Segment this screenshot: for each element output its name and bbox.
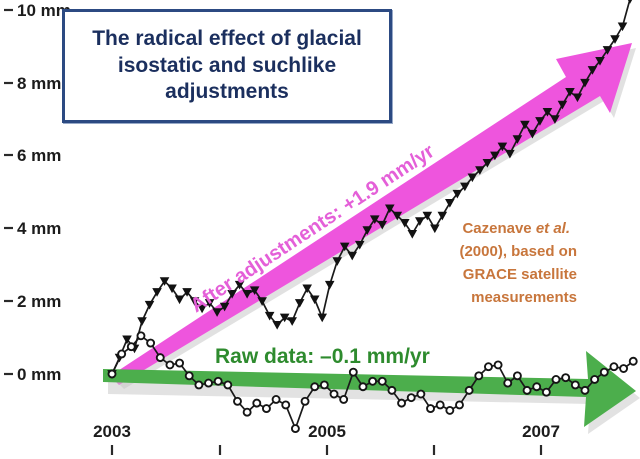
data-point [244, 409, 251, 416]
data-point [427, 405, 434, 412]
data-point [398, 400, 405, 407]
data-point [318, 314, 326, 322]
data-point [369, 378, 376, 385]
source-etal: et al. [536, 220, 570, 237]
data-point [326, 281, 334, 289]
data-point [253, 400, 260, 407]
data-point [610, 363, 617, 370]
data-point [581, 387, 588, 394]
data-point [147, 340, 154, 347]
data-point [118, 350, 125, 357]
data-point [601, 369, 608, 376]
page-title: The radical effect of glacial isostatic … [65, 26, 389, 107]
data-point [562, 374, 569, 381]
data-point [553, 376, 560, 383]
data-point [137, 332, 144, 339]
data-point [437, 401, 444, 408]
data-point [215, 378, 222, 385]
data-point [273, 321, 281, 329]
data-point [348, 252, 356, 260]
source-line3: GRACE satellite [463, 266, 577, 283]
data-point [157, 354, 164, 361]
data-point [495, 361, 502, 368]
data-point [504, 380, 511, 387]
data-point [295, 299, 303, 307]
x-axis-labels: 2003 2005 2007 [93, 422, 560, 441]
svg-text:Cazenave et al.: Cazenave et al. [462, 220, 570, 237]
data-point [138, 318, 146, 326]
data-point [618, 23, 626, 31]
data-point [359, 383, 366, 390]
y-tick-label: 4 mm [17, 219, 61, 238]
data-point [379, 378, 386, 385]
data-point [282, 401, 289, 408]
data-point [620, 365, 627, 372]
data-point [431, 225, 439, 233]
title-box: The radical effect of glacial isostatic … [62, 9, 392, 123]
data-point [446, 407, 453, 414]
y-tick-label: 8 mm [17, 74, 61, 93]
data-point [456, 401, 463, 408]
annotation-source: Cazenave et al. (2000), based on GRACE s… [459, 220, 577, 306]
data-point [475, 372, 482, 379]
y-tick-label: 2 mm [17, 292, 61, 311]
data-point [514, 372, 521, 379]
data-point [288, 318, 296, 326]
x-tick-label: 2007 [522, 422, 560, 441]
data-point [388, 387, 395, 394]
source-line4: measurements [471, 289, 577, 306]
data-point [630, 358, 637, 365]
data-point [417, 391, 424, 398]
data-point [224, 381, 231, 388]
source-author: Cazenave [462, 220, 535, 237]
data-point [292, 425, 299, 432]
data-point [128, 343, 135, 350]
data-point [485, 363, 492, 370]
data-point [438, 212, 446, 220]
data-point [591, 376, 598, 383]
data-point [321, 381, 328, 388]
data-point [533, 383, 540, 390]
annotation-raw-data: Raw data: –0.1 mm/yr [215, 345, 430, 368]
data-point [302, 398, 309, 405]
data-point [626, 0, 634, 3]
data-point [205, 380, 212, 387]
x-tick-label: 2005 [308, 422, 346, 441]
data-point [145, 301, 153, 309]
data-point [331, 391, 338, 398]
data-point [416, 218, 424, 226]
data-point [311, 383, 318, 390]
x-tick-label: 2003 [93, 422, 131, 441]
y-axis-ticks [4, 10, 13, 374]
data-point [408, 394, 415, 401]
data-point [186, 372, 193, 379]
data-point [408, 230, 416, 238]
data-point [175, 296, 183, 304]
data-point [234, 398, 241, 405]
data-point [273, 396, 280, 403]
data-point [311, 296, 319, 304]
annotation-after-adjustments: After adjustments: +1.9 mm/yr [187, 140, 439, 317]
chart-root: 10 mm 8 mm 6 mm 4 mm 2 mm 0 mm 2003 2005… [0, 0, 640, 459]
y-tick-label: 0 mm [17, 365, 61, 384]
data-point [524, 387, 531, 394]
data-point [350, 369, 357, 376]
data-point [263, 405, 270, 412]
data-point [340, 396, 347, 403]
data-point [176, 360, 183, 367]
x-axis-ticks [112, 445, 541, 455]
data-point [572, 381, 579, 388]
data-point [166, 361, 173, 368]
data-point [466, 387, 473, 394]
source-line2: (2000), based on [459, 243, 577, 260]
data-point [543, 389, 550, 396]
data-point [153, 289, 161, 297]
data-point [446, 199, 454, 207]
data-point [195, 381, 202, 388]
data-point [109, 371, 116, 378]
y-tick-label: 6 mm [17, 146, 61, 165]
